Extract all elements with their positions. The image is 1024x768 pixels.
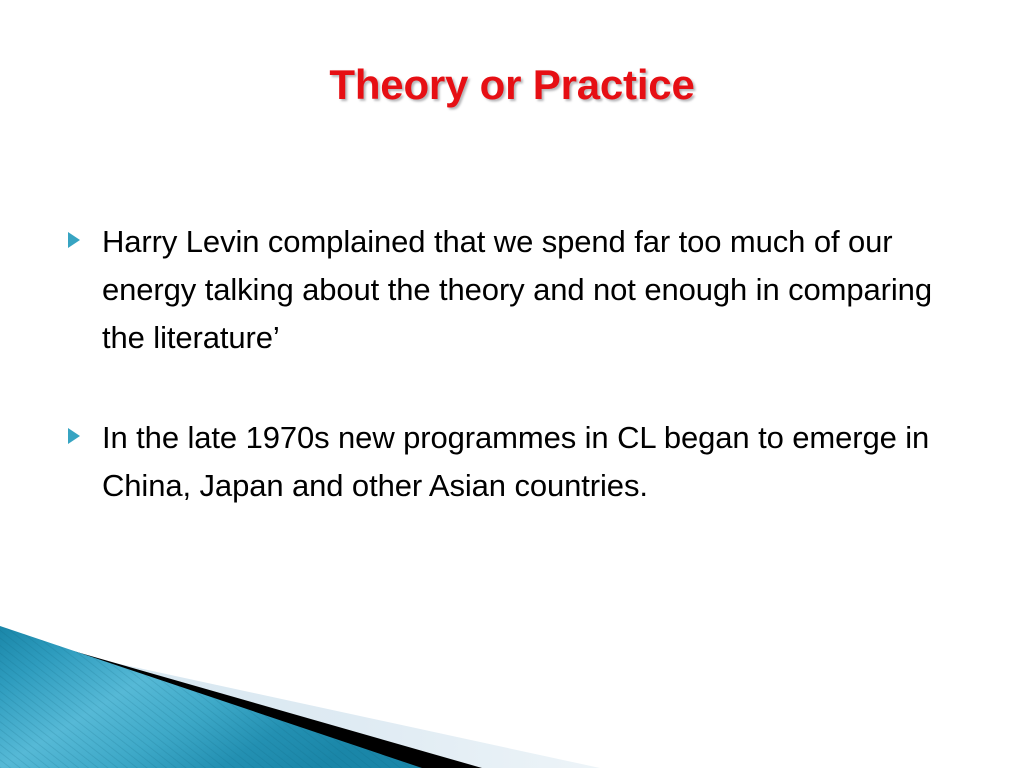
- pale-blue-wedge: [0, 638, 600, 768]
- slide-body: Harry Levin complained that we spend far…: [66, 218, 976, 510]
- page-title: Theory or Practice: [329, 62, 694, 108]
- triangle-right-bullet-icon: [66, 414, 102, 445]
- bullet-item-1: Harry Levin complained that we spend far…: [66, 218, 976, 362]
- presentation-slide: Theory or Practice Harry Levin complaine…: [0, 0, 1024, 768]
- title-area: Theory or Practice: [0, 62, 1024, 108]
- bullet-item-1-text: Harry Levin complained that we spend far…: [102, 218, 962, 362]
- bottom-left-angled-banner: [0, 608, 1024, 768]
- teal-gradient-wedge: [0, 626, 422, 768]
- teal-wedge-hatch-texture: [0, 608, 1024, 768]
- bullet-item-2-text: In the late 1970s new programmes in CL b…: [102, 414, 962, 510]
- triangle-right-bullet-icon: [66, 218, 102, 249]
- bullet-item-2: In the late 1970s new programmes in CL b…: [66, 414, 976, 510]
- black-accent-sliver: [0, 630, 482, 768]
